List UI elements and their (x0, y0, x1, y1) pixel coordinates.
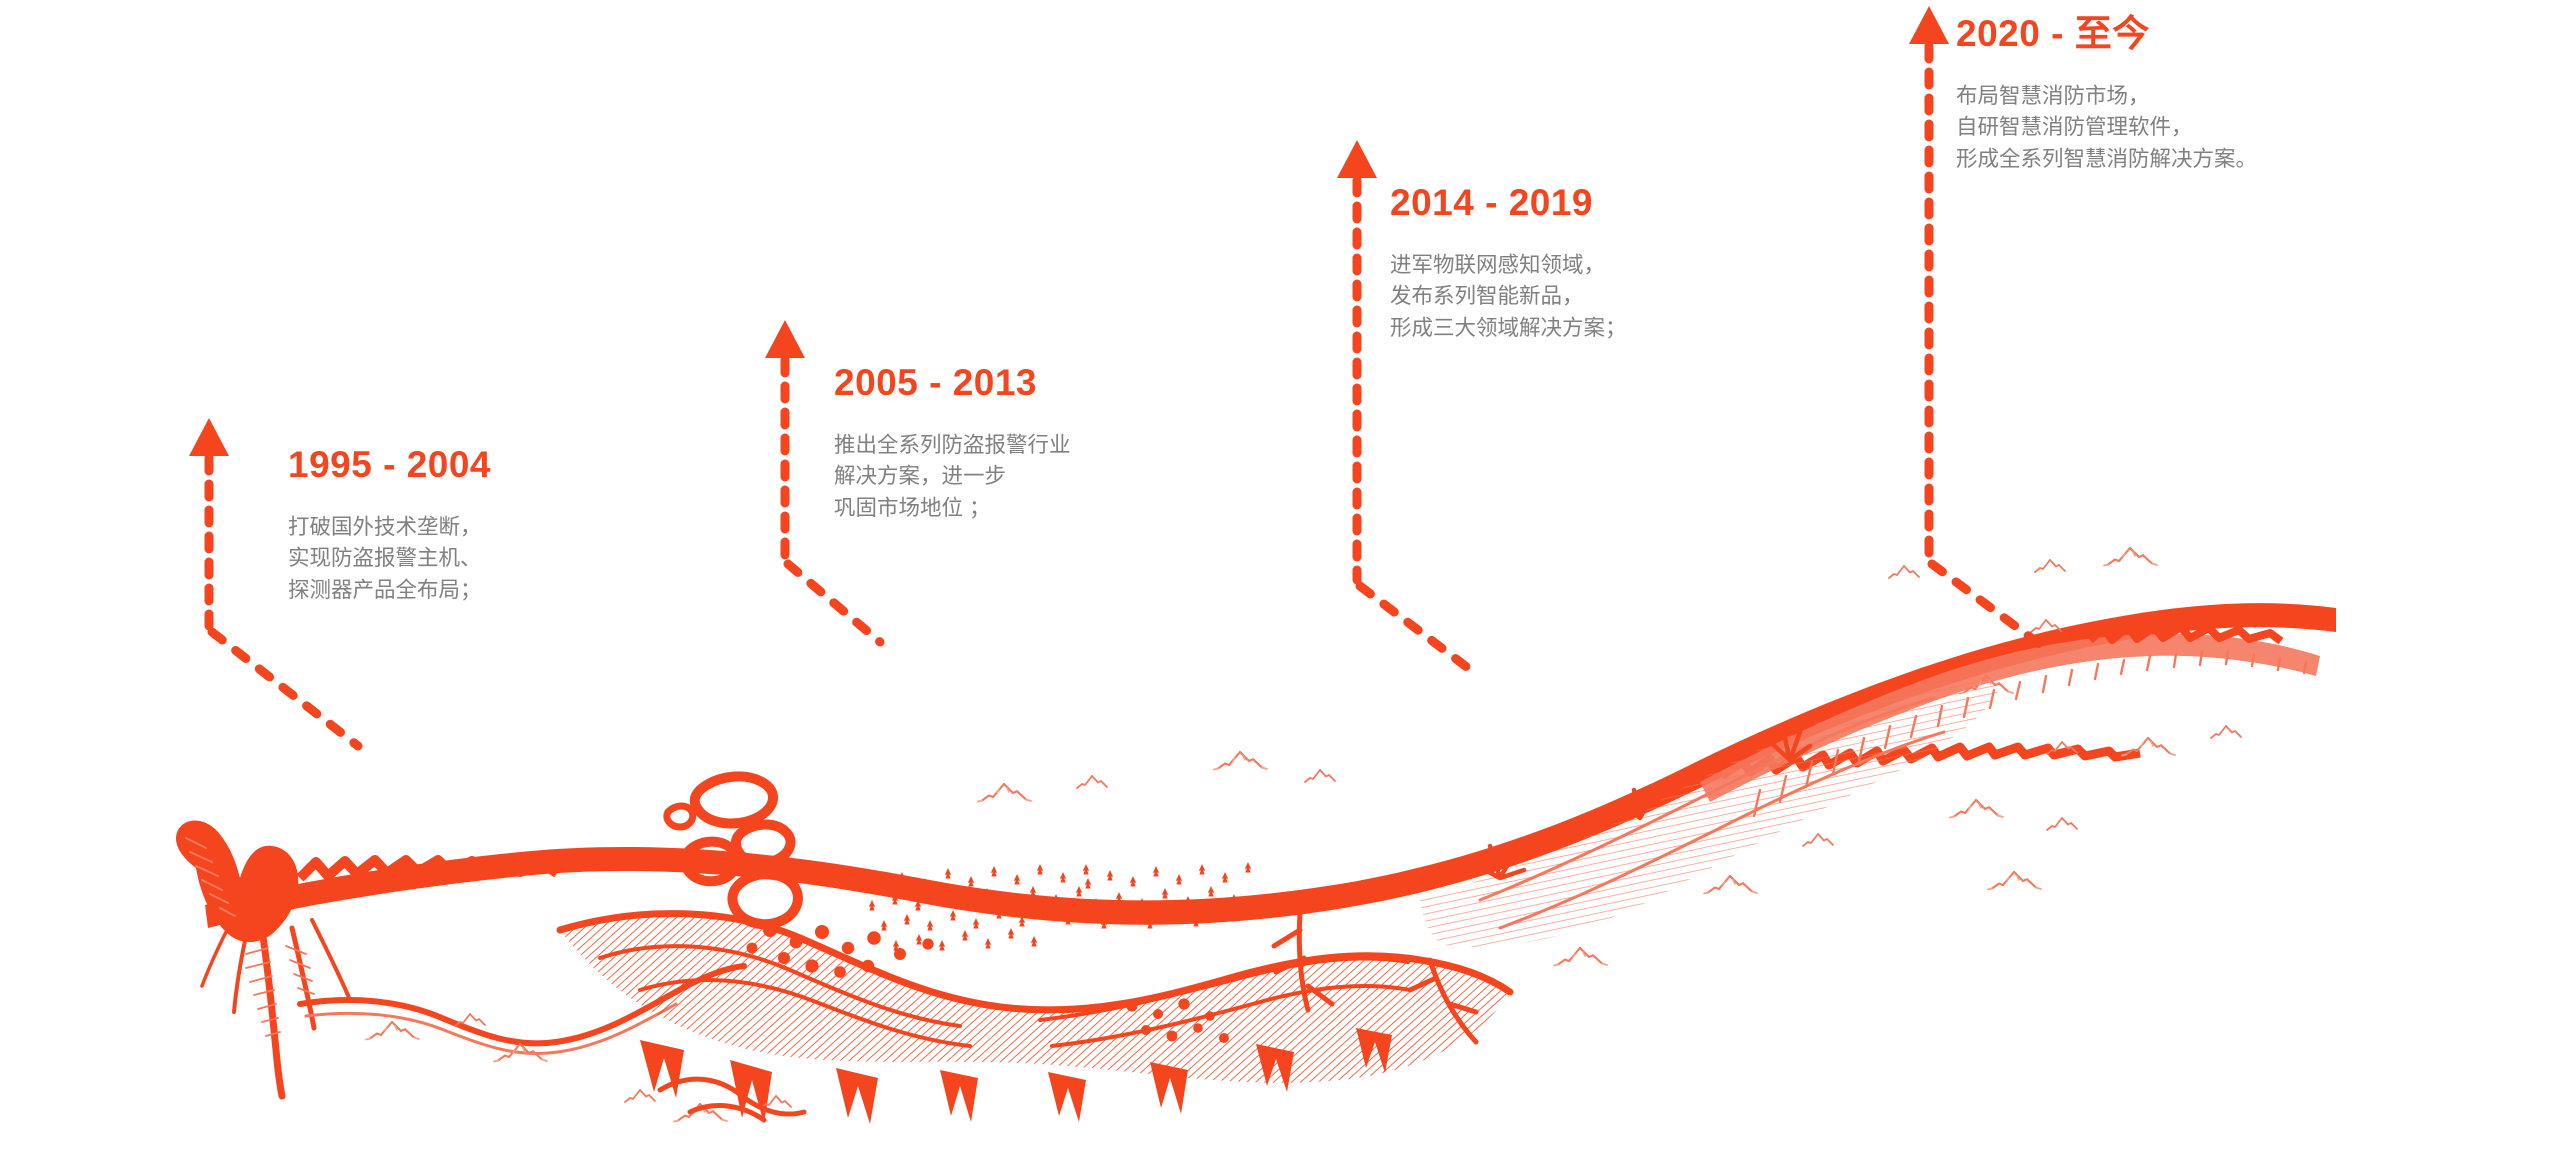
milestone-2014-2019: 2014 - 2019 进军物联网感知领域， 发布系列智能新品， 形成三大领域解… (1390, 183, 1627, 344)
milestone-2020-now: 2020 - 至今 布局智慧消防市场， 自研智慧消防管理软件， 形成全系列智慧消… (1956, 14, 2257, 175)
milestone-body-line: 解决方案，进一步 (834, 461, 1071, 493)
milestone-heading: 1995 - 2004 (288, 445, 491, 486)
arrow-up-icon (189, 418, 229, 456)
milestone-2005-2013: 2005 - 2013 推出全系列防盗报警行业 解决方案，进一步 巩固市场地位 … (834, 363, 1071, 524)
milestone-body-line: 形成全系列智慧消防解决方案。 (1956, 144, 2257, 176)
milestone-body-line: 打破国外技术垄断， (288, 512, 491, 544)
milestone-1995-2004: 1995 - 2004 打破国外技术垄断， 实现防盗报警主机、 探测器产品全布局… (288, 445, 491, 606)
milestone-body-line: 探测器产品全布局； (288, 575, 491, 607)
milestone-heading: 2020 - 至今 (1956, 14, 2257, 55)
milestone-heading: 2014 - 2019 (1390, 183, 1627, 224)
milestone-body-line: 进军物联网感知领域， (1390, 250, 1627, 282)
milestone-body-line: 推出全系列防盗报警行业 (834, 430, 1071, 462)
arrow-up-icon (1337, 140, 1377, 178)
timeline-infographic: 1995 - 2004 打破国外技术垄断， 实现防盗报警主机、 探测器产品全布局… (0, 0, 2560, 1160)
milestone-body: 进军物联网感知领域， 发布系列智能新品， 形成三大领域解决方案； (1390, 250, 1627, 345)
milestone-body-line: 形成三大领域解决方案； (1390, 313, 1627, 345)
milestone-body: 布局智慧消防市场， 自研智慧消防管理软件， 形成全系列智慧消防解决方案。 (1956, 81, 2257, 176)
milestone-heading: 2005 - 2013 (834, 363, 1071, 404)
arrow-up-icon (1909, 6, 1949, 44)
arrow-up-icon (765, 320, 805, 358)
milestone-body-line: 发布系列智能新品， (1390, 281, 1627, 313)
milestone-body-line: 巩固市场地位 ； (834, 493, 1071, 525)
milestone-body-line: 实现防盗报警主机、 (288, 543, 491, 575)
milestone-body-line: 布局智慧消防市场， (1956, 81, 2257, 113)
milestone-body-line: 自研智慧消防管理软件， (1956, 112, 2257, 144)
milestone-body: 推出全系列防盗报警行业 解决方案，进一步 巩固市场地位 ； (834, 430, 1071, 525)
milestone-body: 打破国外技术垄断， 实现防盗报警主机、 探测器产品全布局； (288, 512, 491, 607)
